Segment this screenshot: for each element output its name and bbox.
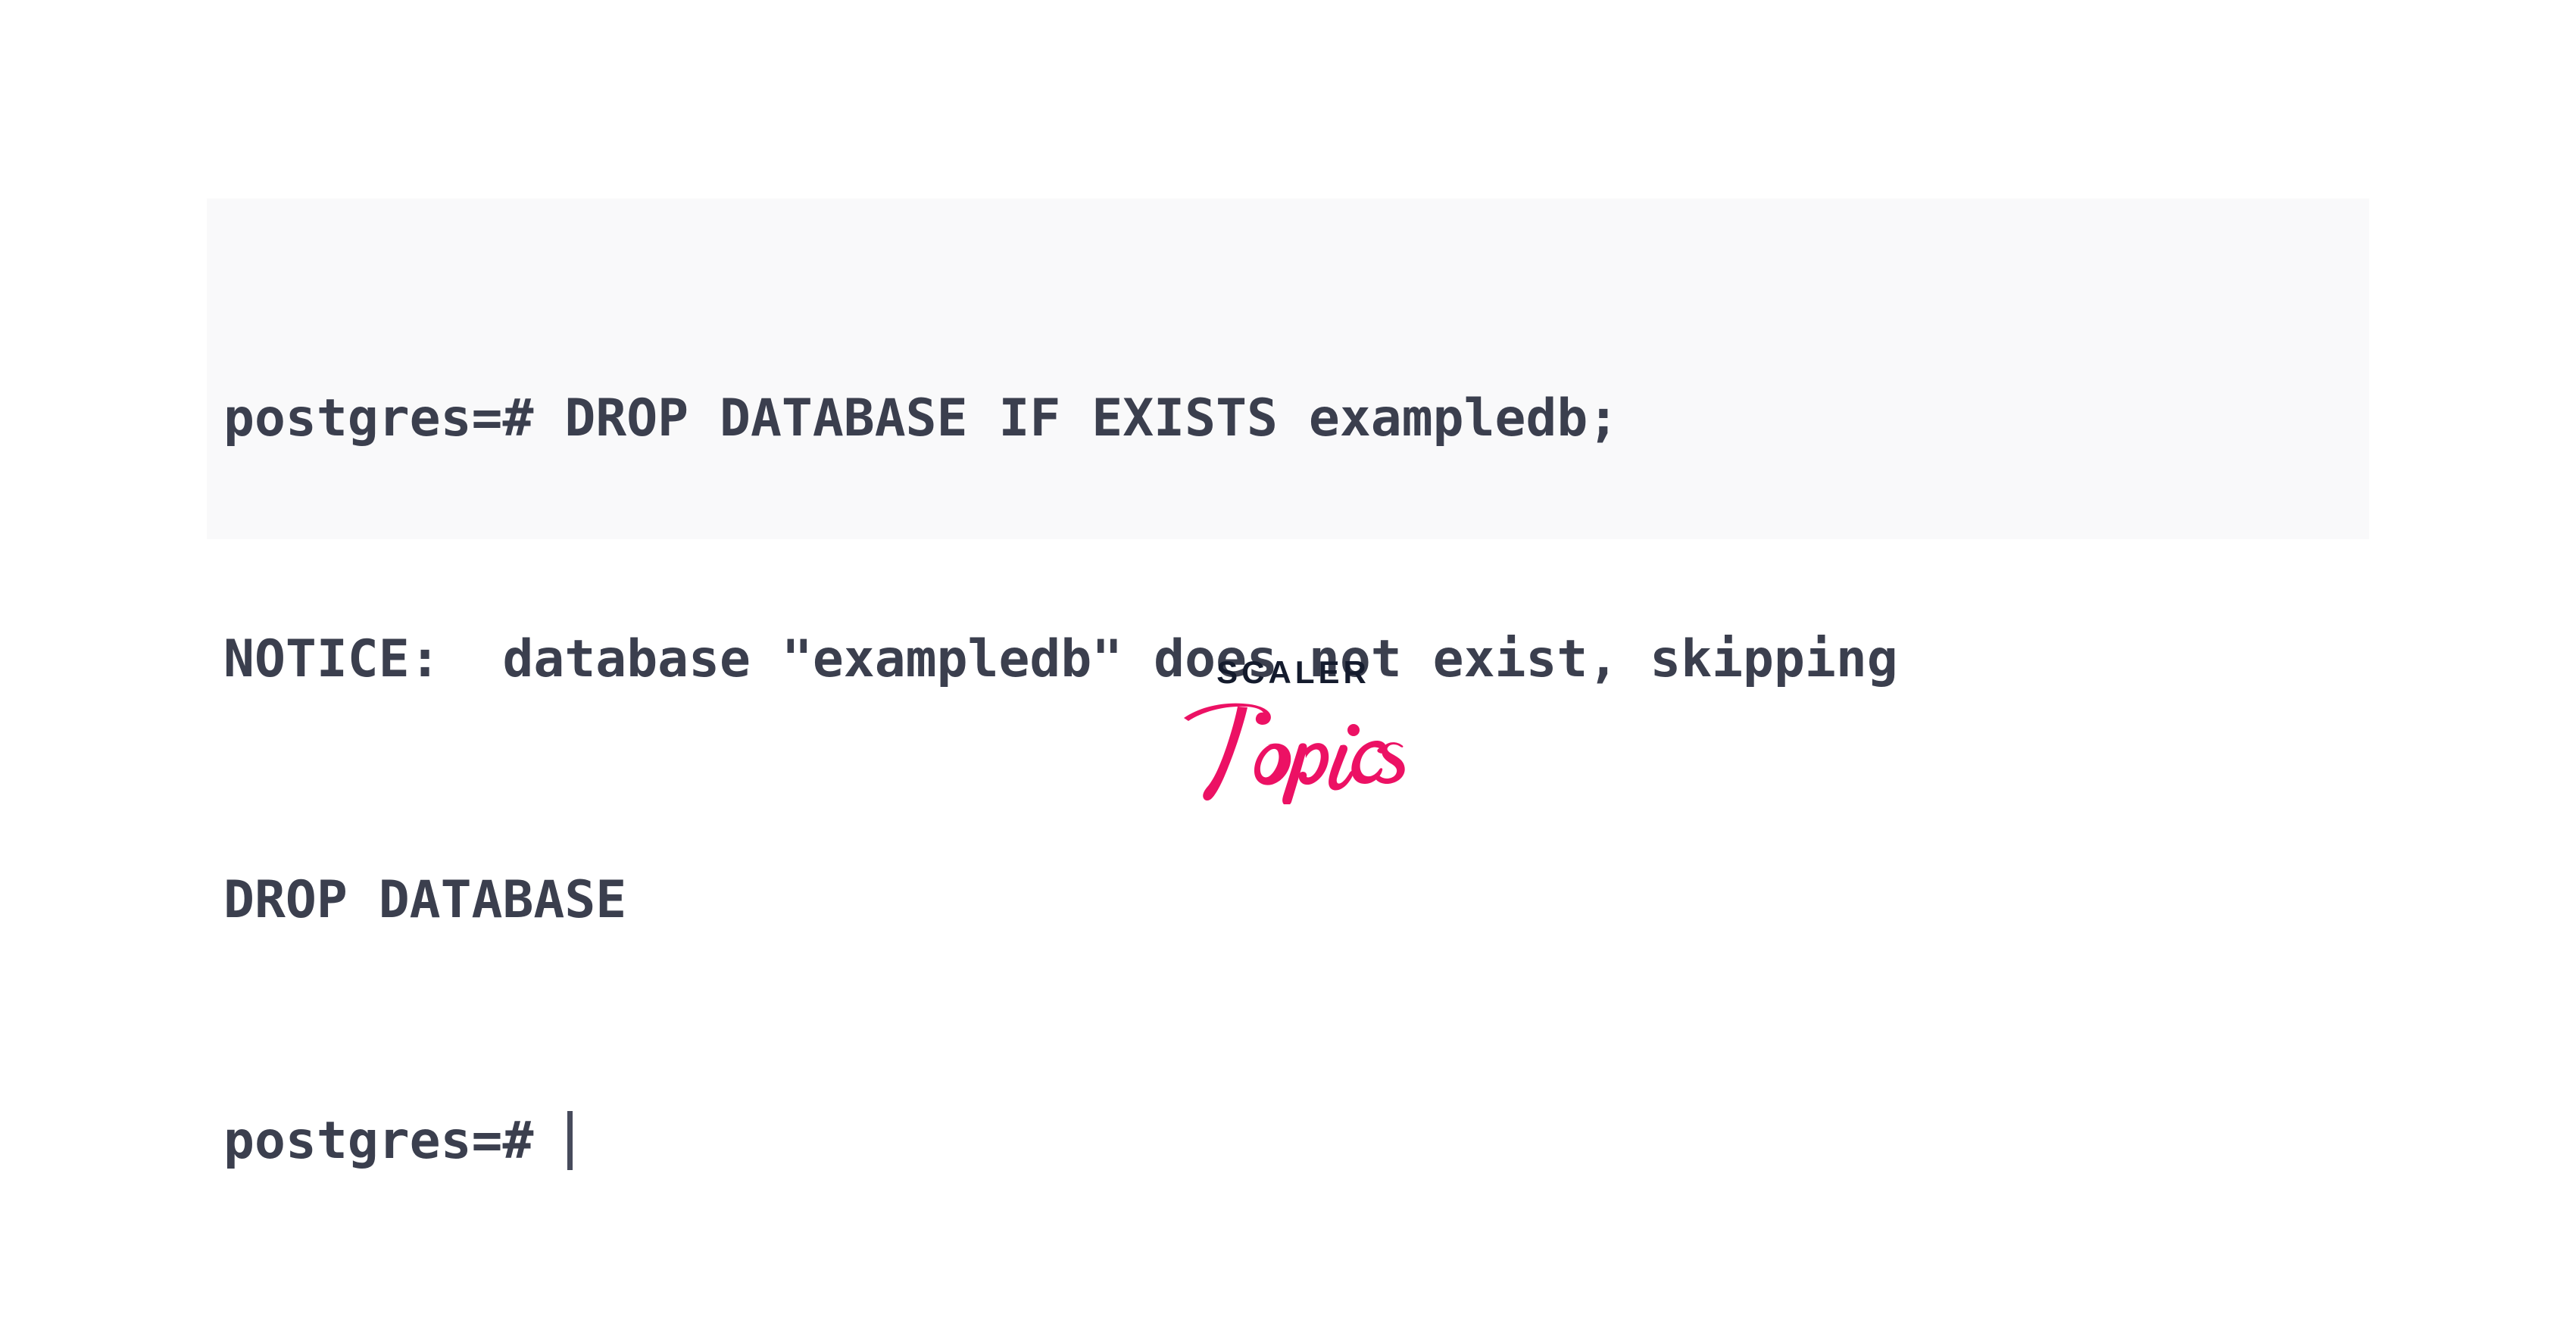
logo-wordmark-scaler: SCALER — [1182, 656, 1405, 689]
text-cursor-icon — [567, 1111, 573, 1170]
scaler-topics-logo: SCALER — [1178, 656, 1405, 815]
terminal-code-block: postgres=# DROP DATABASE IF EXISTS examp… — [207, 198, 2369, 539]
terminal-line-result: DROP DATABASE — [223, 860, 2369, 941]
terminal-line-command: postgres=# DROP DATABASE IF EXISTS examp… — [223, 379, 2369, 459]
terminal-prompt-text: postgres=# — [223, 1111, 564, 1171]
terminal-line-prompt: postgres=# — [223, 1101, 2369, 1181]
logo-script-topics — [1178, 691, 1405, 804]
